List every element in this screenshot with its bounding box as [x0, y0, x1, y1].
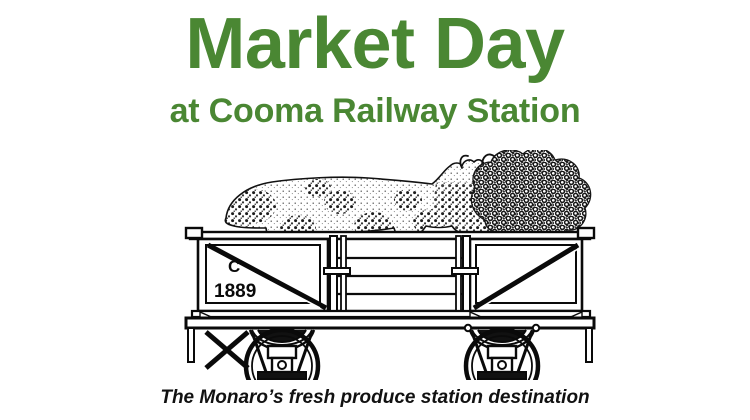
illustration-railway-wagon: C 1889: [0, 150, 750, 380]
wagon-left-wheel-assembly: [206, 330, 318, 380]
railway-wagon-illustration: [186, 228, 594, 380]
page-title: Market Day: [0, 0, 750, 80]
poster-tagline: The Monaro’s fresh produce station desti…: [0, 388, 750, 407]
wagon-year-mark: 1889: [214, 281, 256, 302]
wagon-centre-door: [324, 236, 478, 314]
wagon-right-panel: [470, 239, 582, 311]
market-day-poster: Market Day at Cooma Railway Station: [0, 0, 750, 420]
headline-block: Market Day at Cooma Railway Station: [0, 0, 750, 128]
wagon-letter-mark: C: [228, 257, 240, 276]
page-subtitle: at Cooma Railway Station: [0, 80, 750, 128]
wagon-right-wheel-assembly: [465, 325, 539, 380]
